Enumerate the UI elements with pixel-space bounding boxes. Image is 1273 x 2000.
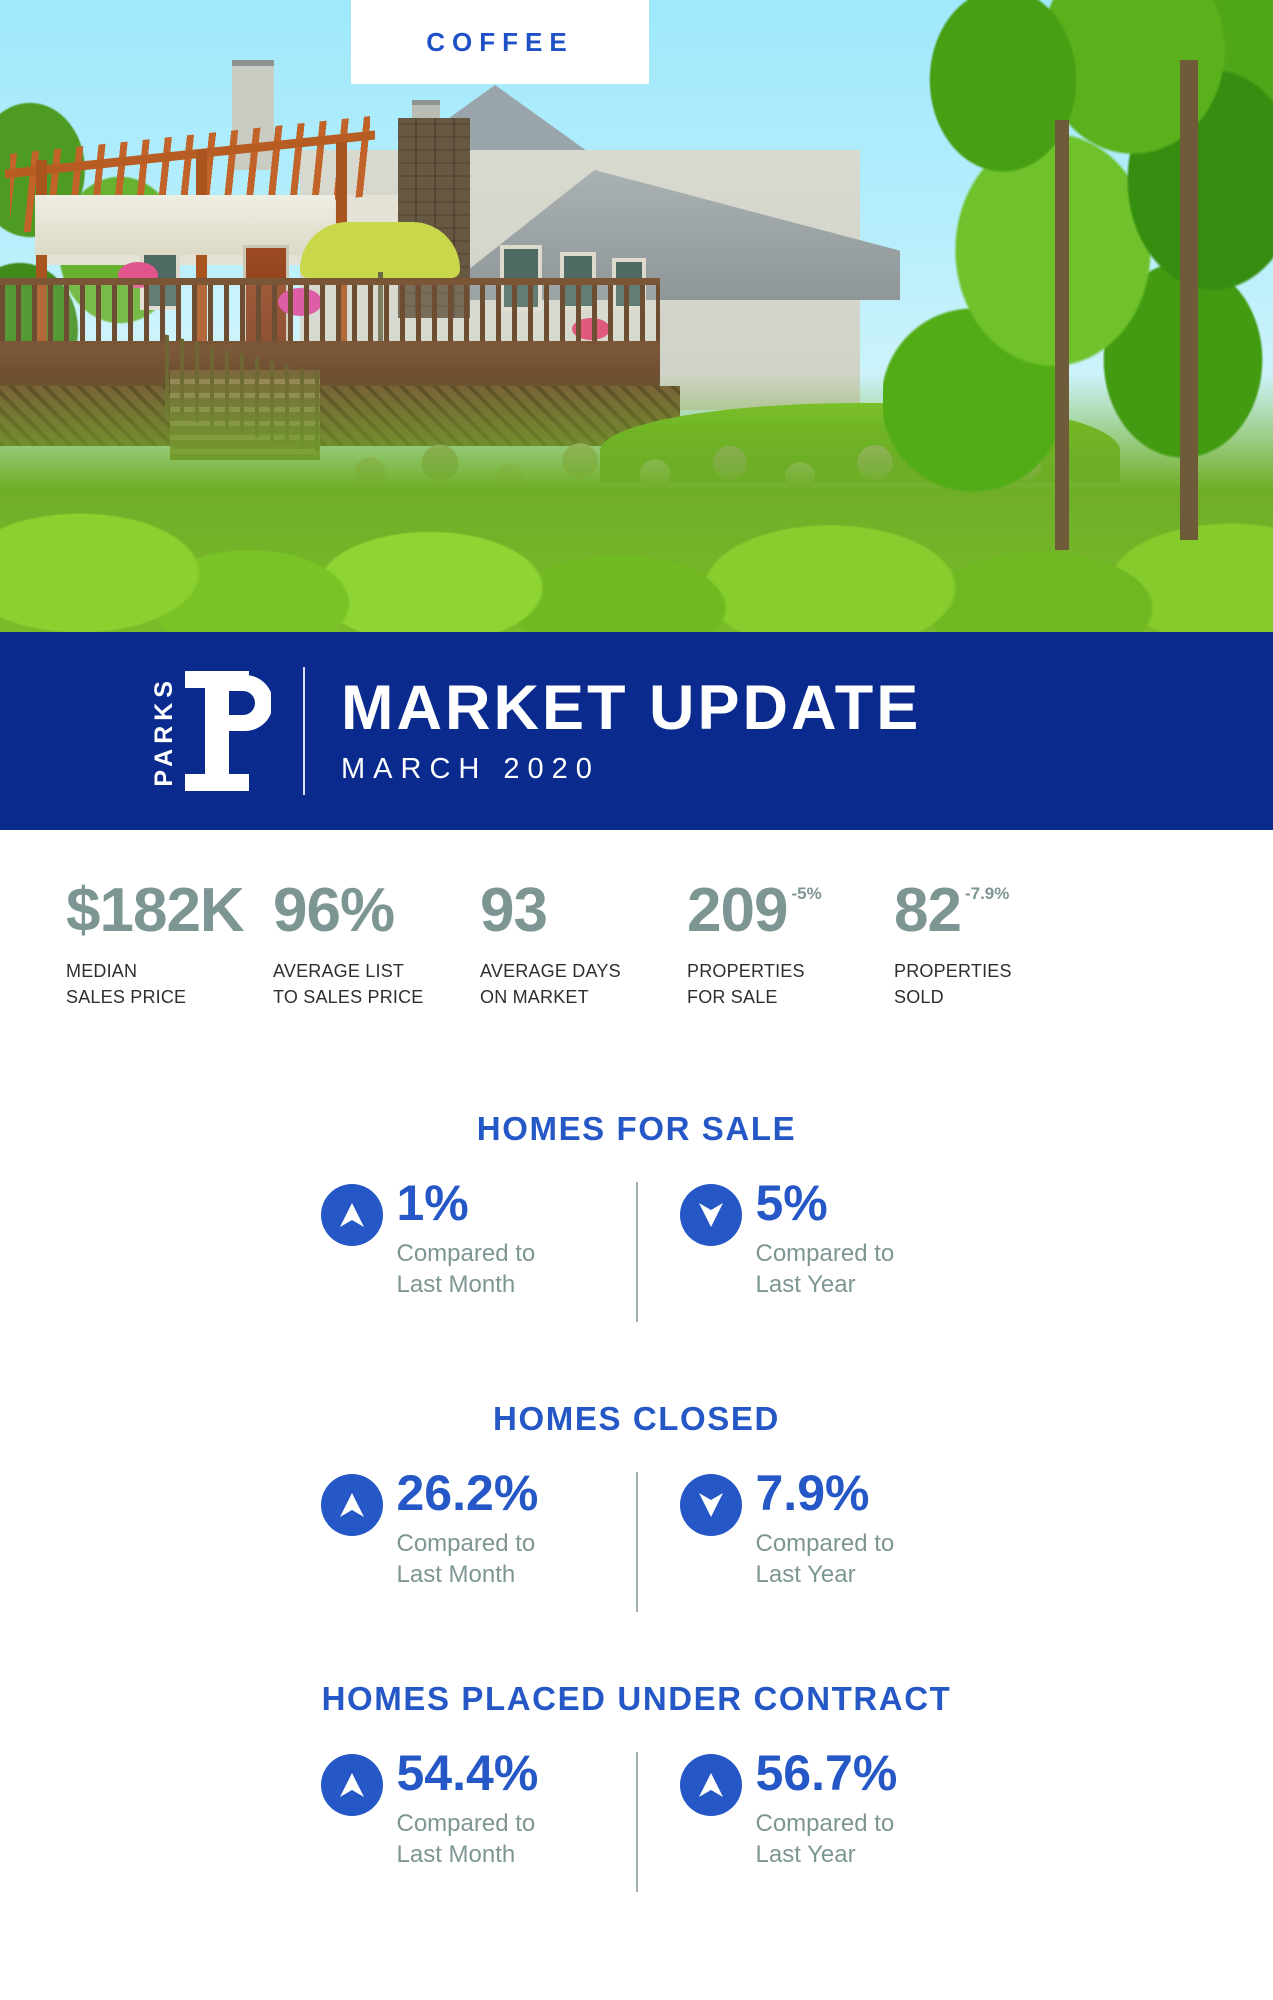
- arrow-up-icon: [321, 1184, 383, 1246]
- comparison-note-line2: Last Year: [756, 1561, 856, 1588]
- comparison-last-month: 54.4% Compared to Last Month: [321, 1748, 636, 1870]
- comparison-note-line1: Compared to: [397, 1530, 536, 1557]
- header-divider: [303, 667, 305, 795]
- comparison-pair: 54.4% Compared to Last Month 56.7% Compa…: [0, 1748, 1273, 1892]
- comparison-text: 5% Compared to Last Year: [756, 1178, 895, 1300]
- deck-railing: [0, 278, 660, 348]
- brand-wordmark: PARKS: [152, 676, 177, 787]
- stat-value: 93: [480, 880, 547, 942]
- porch-awning: [35, 195, 335, 255]
- stat-value: 209: [687, 880, 787, 942]
- tree-trunk-1: [1055, 120, 1069, 550]
- comparison-last-month: 26.2% Compared to Last Month: [321, 1468, 636, 1590]
- tree-trunk-2: [1180, 60, 1198, 540]
- arrow-up-icon: [680, 1754, 742, 1816]
- stat-median-sales-price: $182K MEDIAN SALES PRICE: [66, 880, 273, 1010]
- comparison-note-line1: Compared to: [756, 1240, 895, 1267]
- brand-logo: PARKS: [152, 671, 271, 791]
- key-stats-row: $182K MEDIAN SALES PRICE 96% AVERAGE LIS…: [0, 880, 1273, 1010]
- stat-label-line2: ON MARKET: [480, 987, 589, 1007]
- section-title: HOMES FOR SALE: [0, 1110, 1273, 1148]
- arrow-up-icon: [321, 1474, 383, 1536]
- stat-label: PROPERTIES SOLD: [894, 958, 1101, 1010]
- comparison-note-line2: Last Month: [397, 1561, 516, 1588]
- stat-value: 96%: [273, 880, 394, 942]
- stat-average-days-on-market: 93 AVERAGE DAYS ON MARKET: [480, 880, 687, 1010]
- brand-monogram-icon: [183, 671, 271, 791]
- stat-properties-for-sale: 209 -5% PROPERTIES FOR SALE: [687, 880, 894, 1010]
- comparison-last-month: 1% Compared to Last Month: [321, 1178, 636, 1300]
- stat-label: AVERAGE DAYS ON MARKET: [480, 958, 687, 1010]
- arrow-down-icon: [680, 1184, 742, 1246]
- tree-foliage-right: [883, 0, 1273, 520]
- section-title: HOMES CLOSED: [0, 1400, 1273, 1438]
- comparison-note-line1: Compared to: [397, 1810, 536, 1837]
- stat-label-line1: PROPERTIES: [687, 961, 805, 981]
- stat-label-line1: AVERAGE LIST: [273, 961, 404, 981]
- stat-properties-sold: 82 -7.9% PROPERTIES SOLD: [894, 880, 1101, 1010]
- comparison-note-line2: Last Year: [756, 1841, 856, 1868]
- patio-umbrella: [300, 222, 460, 278]
- comparison-percent: 54.4%: [397, 1748, 539, 1798]
- comparison-pair: 1% Compared to Last Month 5% Compared to…: [0, 1178, 1273, 1322]
- stat-change: -7.9%: [965, 884, 1009, 904]
- comparison-note: Compared to Last Year: [756, 1238, 895, 1300]
- stat-label-line2: FOR SALE: [687, 987, 778, 1007]
- stat-value: 82: [894, 880, 961, 942]
- stat-label-line1: AVERAGE DAYS: [480, 961, 621, 981]
- section-homes-closed: HOMES CLOSED 26.2% Compared to Last Mont…: [0, 1400, 1273, 1612]
- stat-label-line2: TO SALES PRICE: [273, 987, 424, 1007]
- comparison-percent: 7.9%: [756, 1468, 895, 1518]
- section-homes-placed-under-contract: HOMES PLACED UNDER CONTRACT 54.4% Compar…: [0, 1680, 1273, 1892]
- stat-label: AVERAGE LIST TO SALES PRICE: [273, 958, 480, 1010]
- comparison-percent: 1%: [397, 1178, 536, 1228]
- arrow-down-icon: [680, 1474, 742, 1536]
- comparison-last-year: 56.7% Compared to Last Year: [638, 1748, 953, 1870]
- section-title: HOMES PLACED UNDER CONTRACT: [0, 1680, 1273, 1718]
- comparison-percent: 5%: [756, 1178, 895, 1228]
- stat-change: -5%: [791, 884, 821, 904]
- comparison-text: 7.9% Compared to Last Year: [756, 1468, 895, 1590]
- comparison-note: Compared to Last Year: [756, 1808, 898, 1870]
- stat-label: PROPERTIES FOR SALE: [687, 958, 894, 1010]
- stat-label-line2: SALES PRICE: [66, 987, 186, 1007]
- comparison-text: 26.2% Compared to Last Month: [397, 1468, 539, 1590]
- county-banner: COFFEE: [351, 0, 649, 84]
- stat-label: MEDIAN SALES PRICE: [66, 958, 273, 1010]
- comparison-percent: 26.2%: [397, 1468, 539, 1518]
- comparison-note-line1: Compared to: [756, 1530, 895, 1557]
- comparison-note-line2: Last Year: [756, 1271, 856, 1298]
- comparison-note-line2: Last Month: [397, 1271, 516, 1298]
- stat-label-line2: SOLD: [894, 987, 944, 1007]
- page-title: MARKET UPDATE: [341, 676, 921, 740]
- comparison-last-year: 7.9% Compared to Last Year: [638, 1468, 953, 1590]
- stat-average-list-to-sales-price: 96% AVERAGE LIST TO SALES PRICE: [273, 880, 480, 1010]
- comparison-last-year: 5% Compared to Last Year: [638, 1178, 953, 1300]
- section-homes-for-sale: HOMES FOR SALE 1% Compared to Last Month: [0, 1110, 1273, 1322]
- comparison-note: Compared to Last Year: [756, 1528, 895, 1590]
- county-label: COFFEE: [426, 27, 573, 58]
- hero-photo: [0, 0, 1273, 633]
- page-subtitle: MARCH 2020: [341, 753, 921, 786]
- comparison-note-line2: Last Month: [397, 1841, 516, 1868]
- comparison-note: Compared to Last Month: [397, 1528, 539, 1590]
- comparison-pair: 26.2% Compared to Last Month 7.9% Compar…: [0, 1468, 1273, 1612]
- header-title-block: MARKET UPDATE MARCH 2020: [341, 676, 921, 785]
- comparison-note-line1: Compared to: [756, 1810, 895, 1837]
- comparison-text: 1% Compared to Last Month: [397, 1178, 536, 1300]
- stat-value: $182K: [66, 880, 244, 942]
- comparison-note-line1: Compared to: [397, 1240, 536, 1267]
- arrow-up-icon: [321, 1754, 383, 1816]
- comparison-note: Compared to Last Month: [397, 1238, 536, 1300]
- comparison-text: 56.7% Compared to Last Year: [756, 1748, 898, 1870]
- stat-label-line1: MEDIAN: [66, 961, 137, 981]
- stat-label-line1: PROPERTIES: [894, 961, 1012, 981]
- comparison-note: Compared to Last Month: [397, 1808, 539, 1870]
- market-update-header: PARKS MARKET UPDATE MARCH 2020: [0, 632, 1273, 830]
- comparison-percent: 56.7%: [756, 1748, 898, 1798]
- comparison-text: 54.4% Compared to Last Month: [397, 1748, 539, 1870]
